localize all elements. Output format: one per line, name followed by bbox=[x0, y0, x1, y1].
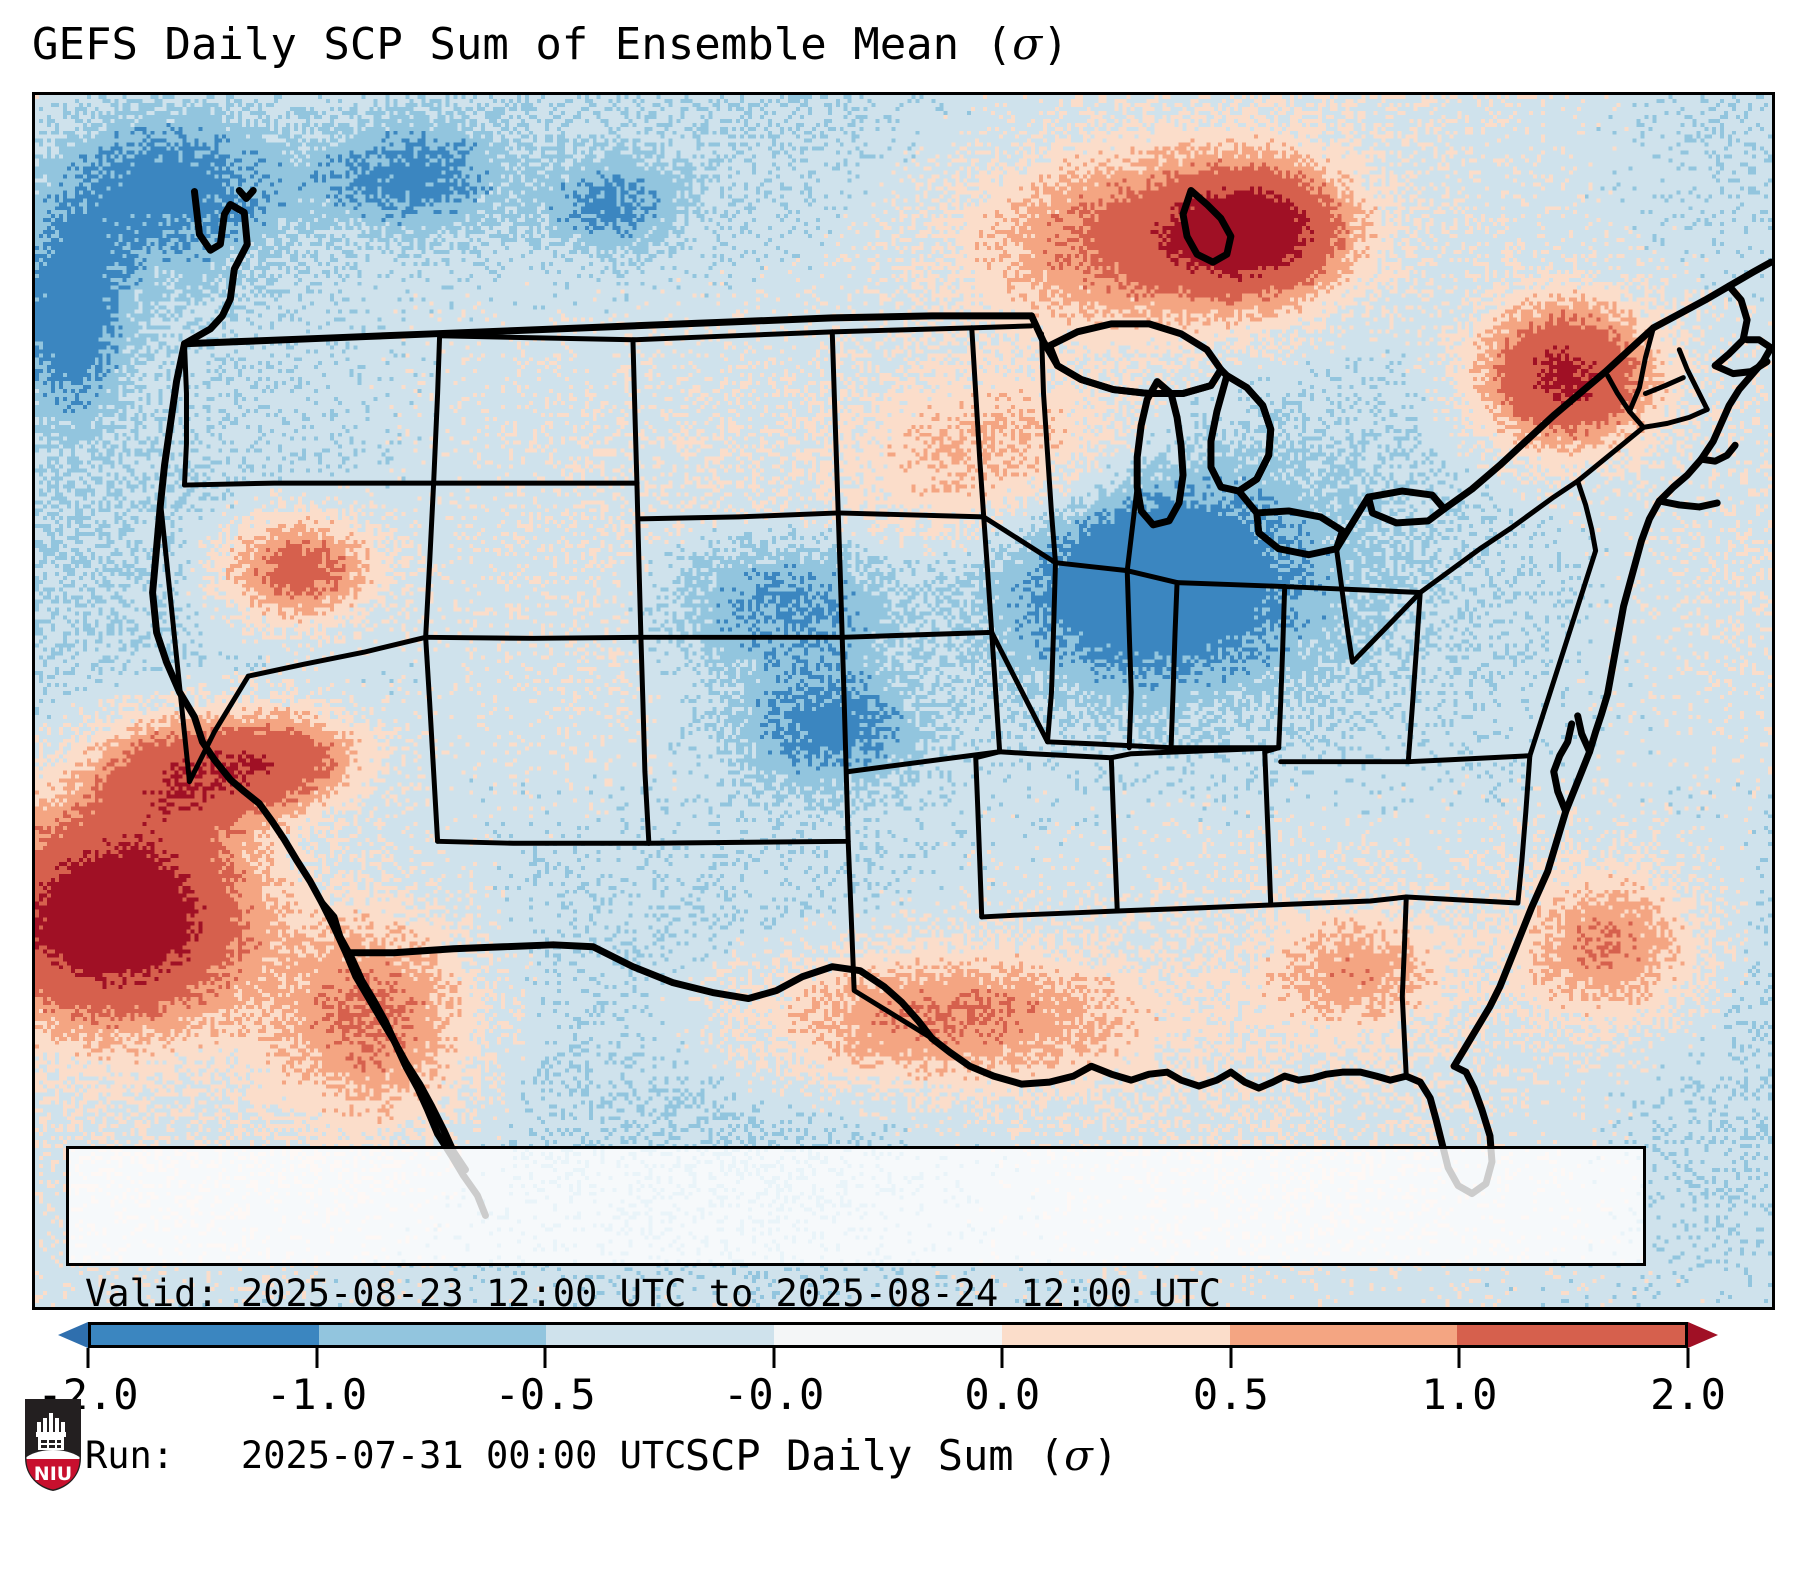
title-text: GEFS Daily SCP Sum of Ensemble Mean ( bbox=[32, 19, 1012, 70]
colorbar-segment-6 bbox=[1457, 1325, 1685, 1345]
niu-shield-icon: NIU bbox=[22, 1396, 84, 1494]
annotation-box: Valid: 2025-08-23 12:00 UTC to 2025-08-2… bbox=[66, 1146, 1646, 1266]
colorbar-segment-5 bbox=[1230, 1325, 1458, 1345]
niu-logo-text: NIU bbox=[34, 1463, 72, 1485]
page-title: GEFS Daily SCP Sum of Ensemble Mean (σ) bbox=[32, 16, 1069, 74]
colorbar-tick-label-4: 0.0 bbox=[964, 1368, 1040, 1422]
colorbar-segment-3 bbox=[774, 1325, 1002, 1345]
colorbar-tick-label-2: -0.5 bbox=[495, 1368, 596, 1422]
sigma-symbol-colorbar: σ bbox=[1064, 1431, 1093, 1480]
colorbar-tick-4 bbox=[1001, 1348, 1004, 1368]
colorbar-tick-1 bbox=[315, 1348, 318, 1368]
colorbar-tick-3 bbox=[772, 1348, 775, 1368]
map-plot-area[interactable] bbox=[32, 92, 1775, 1310]
colorbar-segments bbox=[88, 1322, 1688, 1348]
geography-overlay bbox=[35, 95, 1772, 1307]
sigma-symbol: σ bbox=[1012, 19, 1042, 70]
niu-logo: NIU bbox=[22, 1396, 84, 1494]
colorbar[interactable] bbox=[88, 1322, 1688, 1348]
colorbar-tick-6 bbox=[1458, 1348, 1461, 1368]
coastline-and-borders bbox=[153, 191, 1771, 1216]
state-boundaries bbox=[161, 326, 1708, 1076]
colorbar-extend-high-arrow bbox=[1688, 1322, 1718, 1348]
colorbar-tick-7 bbox=[1687, 1348, 1690, 1368]
title-tail: ) bbox=[1042, 19, 1069, 70]
colorbar-tick-label-1: -1.0 bbox=[266, 1368, 367, 1422]
colorbar-tick-label-6: 1.0 bbox=[1421, 1368, 1497, 1422]
colorbar-tick-label-3: -0.0 bbox=[723, 1368, 824, 1422]
colorbar-axis-label: SCP Daily Sum (σ) bbox=[0, 1428, 1803, 1484]
annotation-valid-line: Valid: 2025-08-23 12:00 UTC to 2025-08-2… bbox=[85, 1267, 1627, 1321]
colorbar-tick-label-7: 2.0 bbox=[1650, 1368, 1726, 1422]
colorbar-tick-0 bbox=[87, 1348, 90, 1368]
colorbar-segment-1 bbox=[319, 1325, 547, 1345]
colorbar-label-text: SCP Daily Sum ( bbox=[685, 1431, 1064, 1480]
colorbar-label-tail: ) bbox=[1093, 1431, 1118, 1480]
colorbar-tick-label-5: 0.5 bbox=[1193, 1368, 1269, 1422]
colorbar-tick-5 bbox=[1229, 1348, 1232, 1368]
colorbar-tick-labels: -2.0-1.0-0.5-0.00.00.51.02.0 bbox=[88, 1368, 1688, 1422]
colorbar-segment-0 bbox=[91, 1325, 319, 1345]
colorbar-tick-2 bbox=[544, 1348, 547, 1368]
colorbar-ticks bbox=[88, 1348, 1688, 1370]
colorbar-segment-2 bbox=[546, 1325, 774, 1345]
colorbar-segment-4 bbox=[1002, 1325, 1230, 1345]
figure-canvas: GEFS Daily SCP Sum of Ensemble Mean (σ) bbox=[0, 0, 1803, 1506]
colorbar-extend-low-arrow bbox=[58, 1322, 88, 1348]
